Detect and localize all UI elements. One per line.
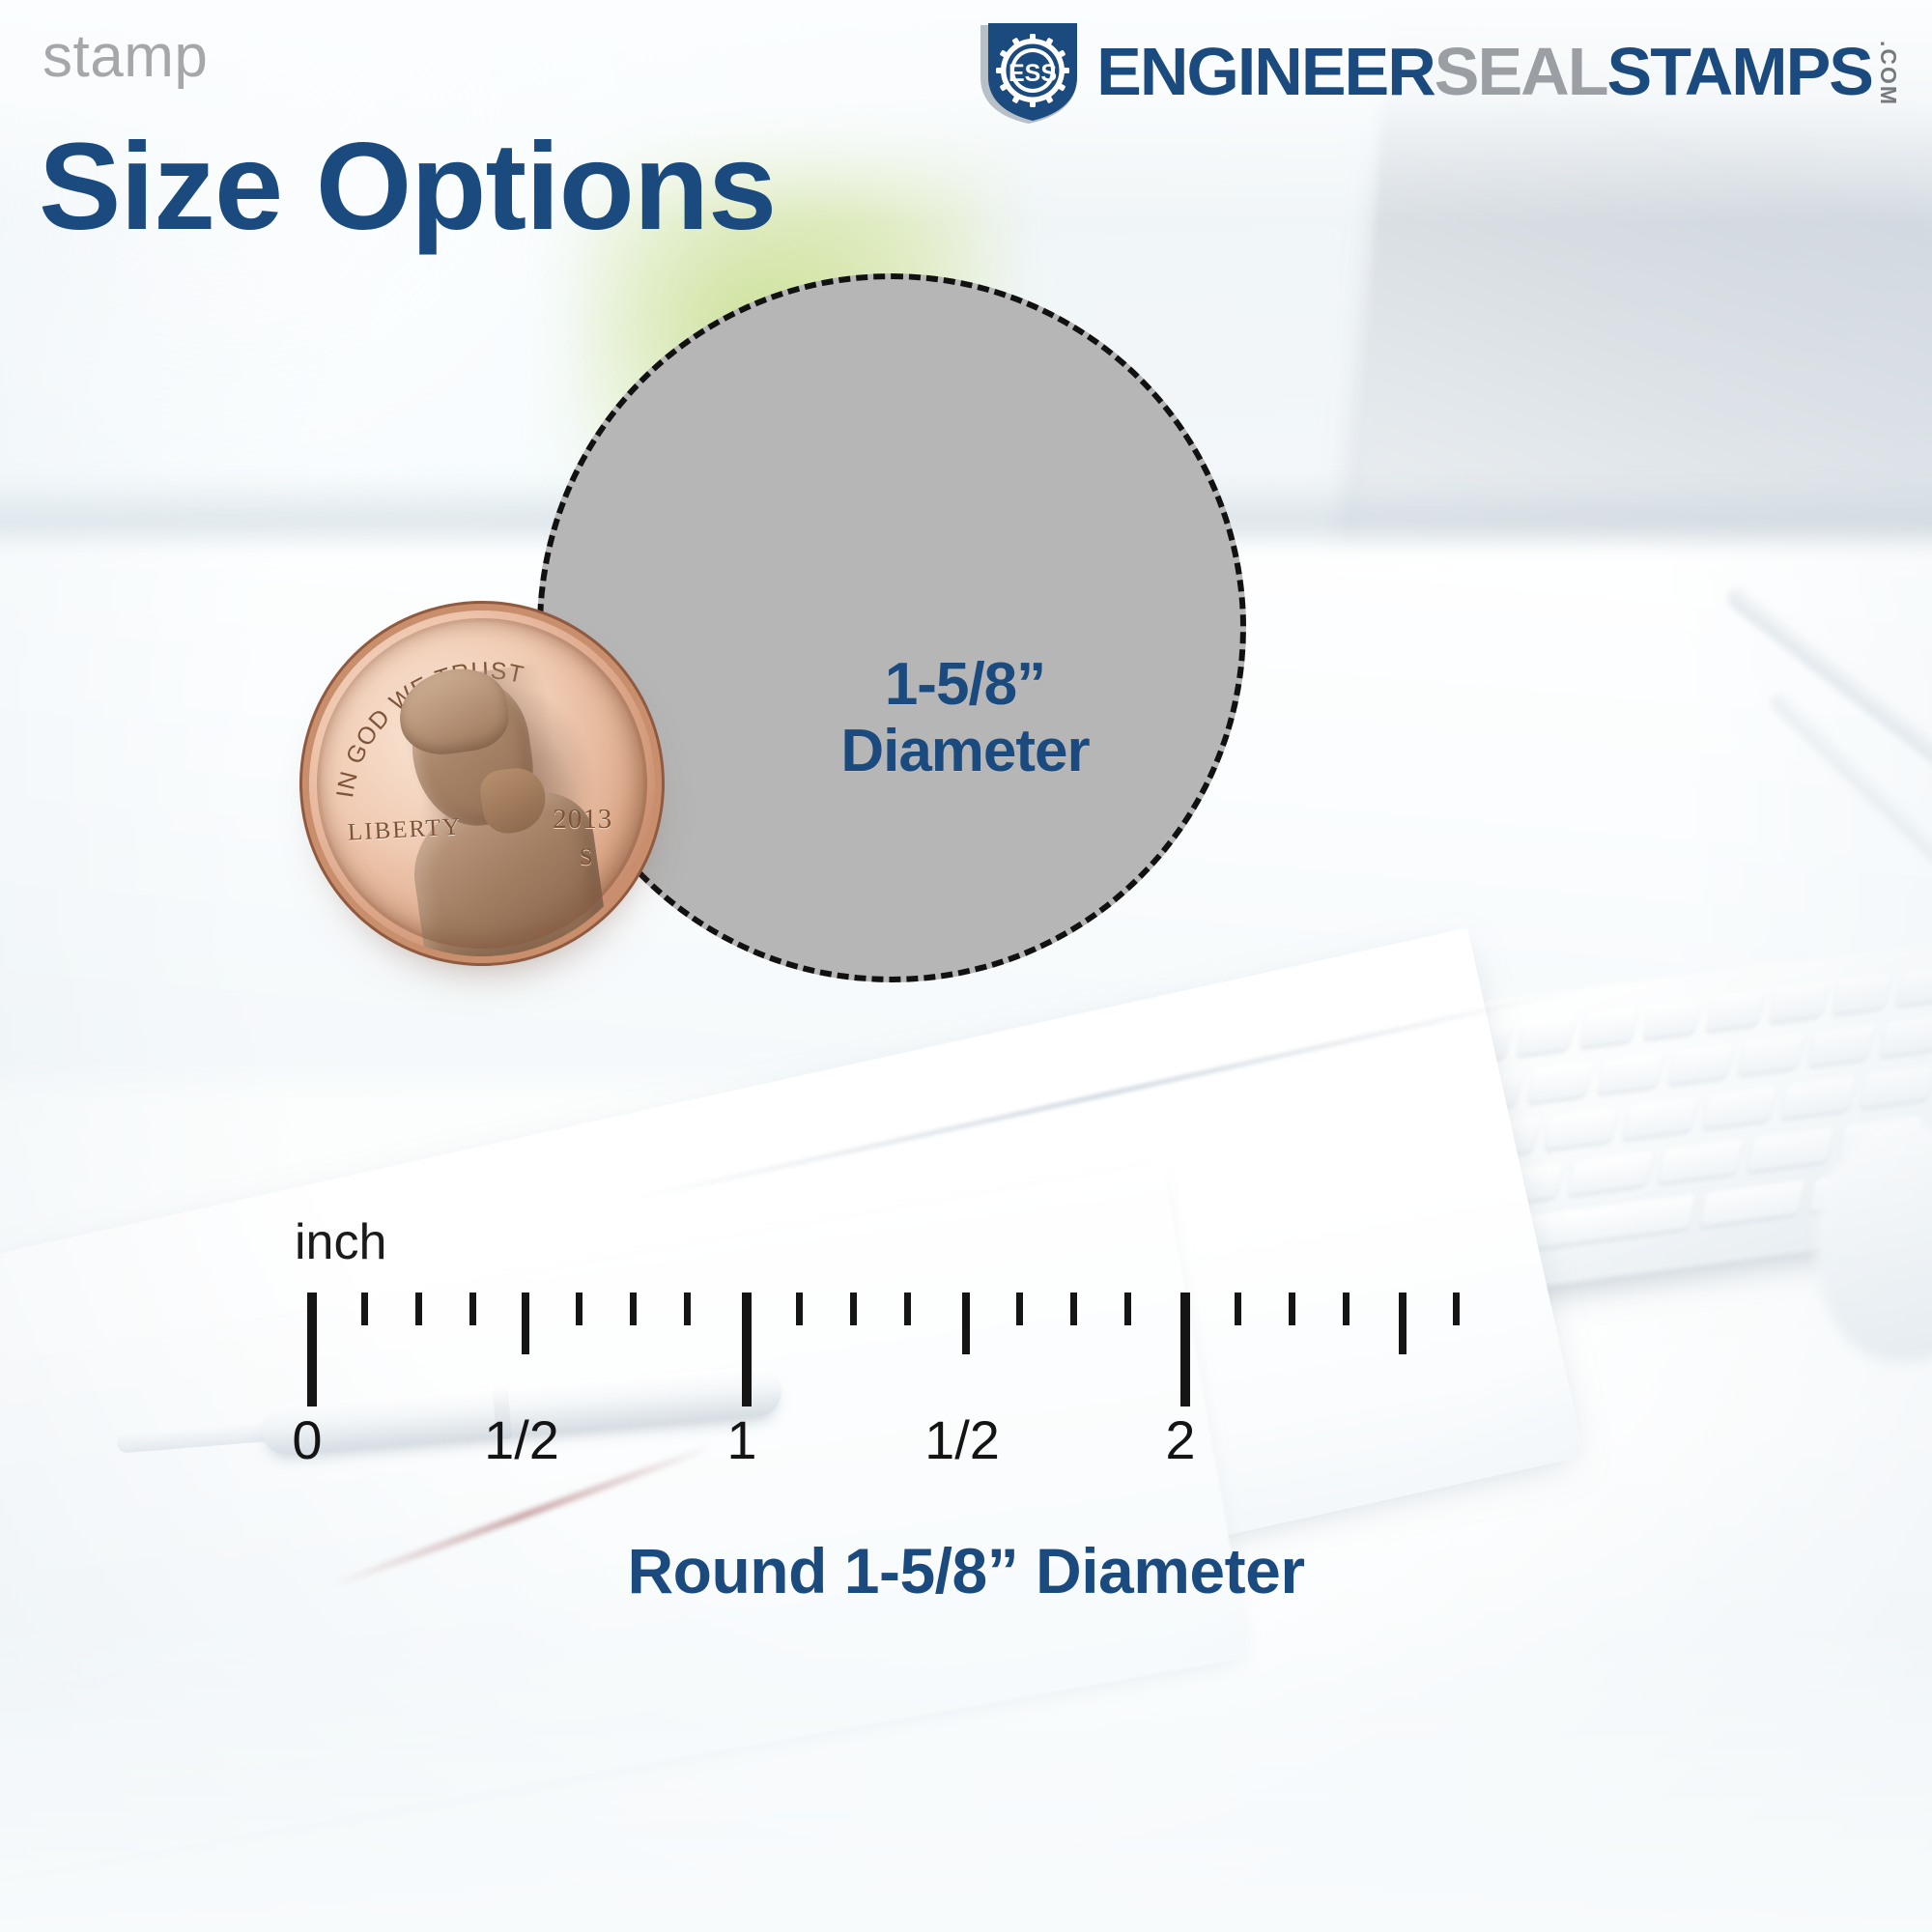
size-caption: Round 1-5/8” Diameter (0, 1534, 1932, 1607)
ruler-number: 1/2 (924, 1408, 1000, 1471)
ruler-tick-minor (630, 1293, 637, 1325)
ruler-tick-half (522, 1293, 529, 1354)
ruler-tick-minor (850, 1293, 857, 1325)
ruler-tick-minor (1016, 1293, 1023, 1325)
ruler-tick-minor (469, 1293, 476, 1325)
ruler-number: 2 (1165, 1408, 1195, 1471)
ruler-tick-minor (904, 1293, 911, 1325)
ruler-tick-minor (1235, 1293, 1241, 1325)
inch-ruler: inch 01/211/22 (0, 0, 1932, 1932)
ruler-tick-major (742, 1293, 752, 1406)
ruler-tick-minor (684, 1293, 691, 1325)
ruler-tick-minor (1343, 1293, 1350, 1325)
ruler-unit-label: inch (295, 1213, 386, 1271)
ruler-tick-half (962, 1293, 970, 1354)
ruler-tick-minor (1453, 1293, 1460, 1325)
size-options-graphic: stamp Size Options (0, 0, 1932, 1932)
ruler-tick-major (307, 1293, 317, 1406)
ruler-tick-minor (1124, 1293, 1131, 1325)
ruler-tick-minor (576, 1293, 582, 1325)
ruler-tick-minor (361, 1293, 368, 1325)
ruler-tick-minor (1070, 1293, 1077, 1325)
ruler-number: 1 (726, 1408, 756, 1471)
ruler-tick-minor (1289, 1293, 1295, 1325)
ruler-tick-minor (415, 1293, 422, 1325)
ruler-tick-minor (796, 1293, 803, 1325)
ruler-tick-half (1399, 1293, 1406, 1354)
ruler-tick-major (1180, 1293, 1190, 1406)
ruler-number: 1/2 (484, 1408, 559, 1471)
ruler-number: 0 (292, 1408, 322, 1471)
